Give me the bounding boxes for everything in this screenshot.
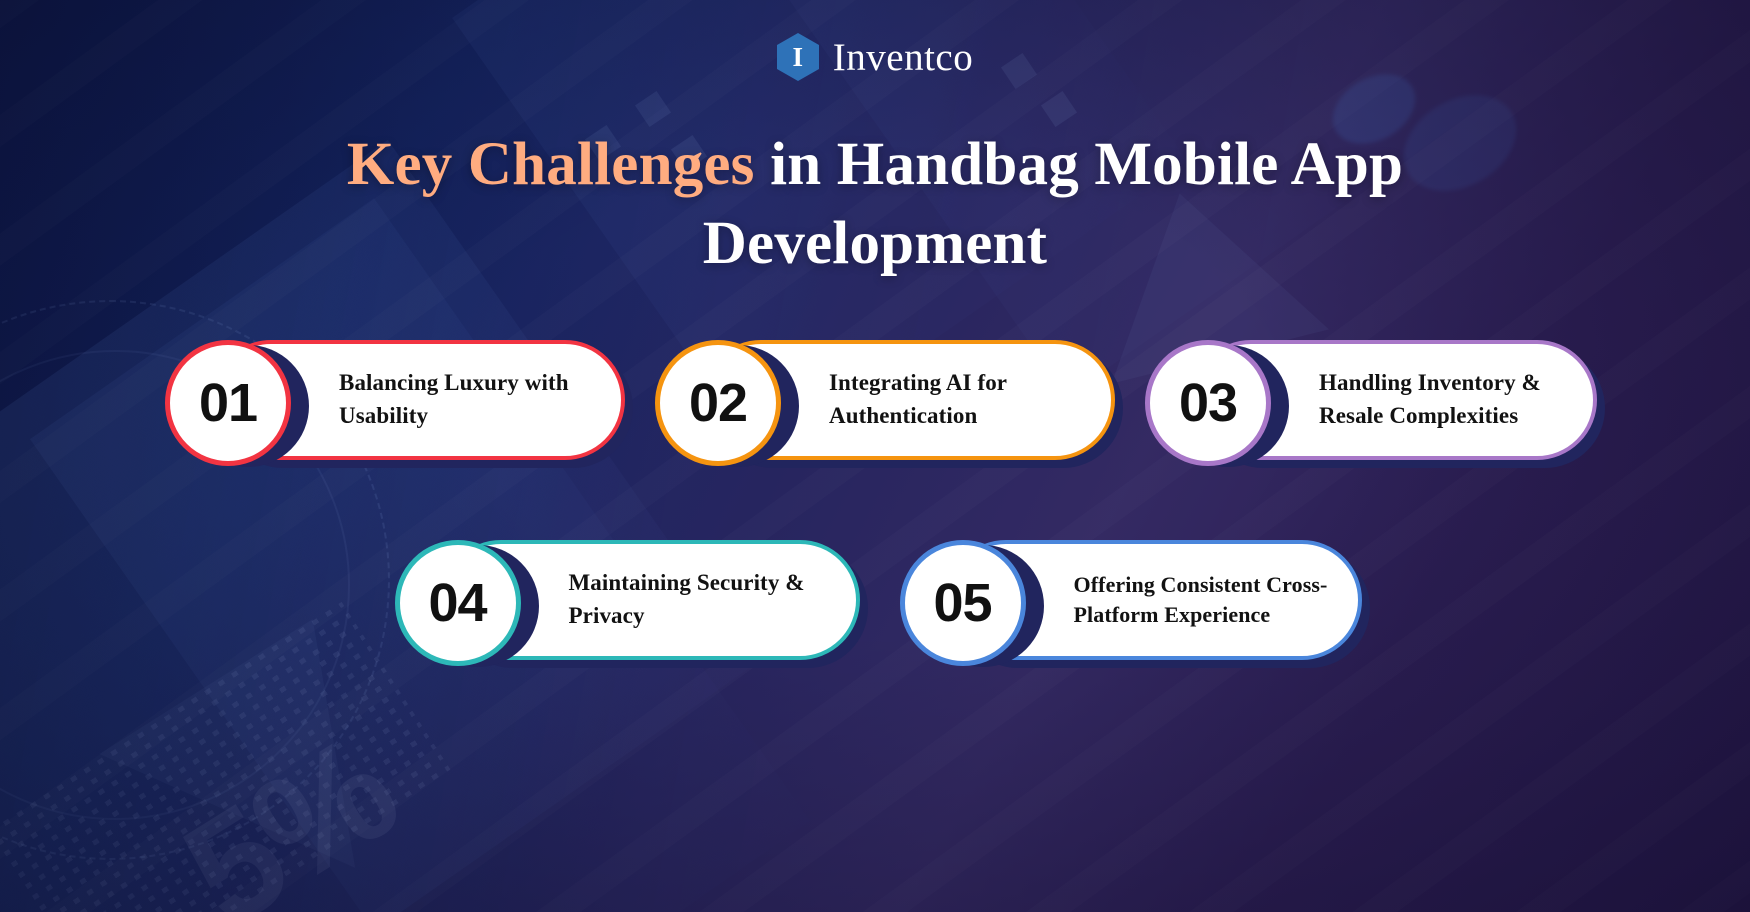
number-badge: 03: [1145, 340, 1271, 466]
card-label: Handling Inventory & Resale Complexities: [1319, 367, 1571, 432]
logo-mark-letter: I: [793, 44, 804, 71]
badge-number: 05: [933, 576, 991, 630]
number-badge: 01: [165, 340, 291, 466]
page-title-rest: in Handbag Mobile App Development: [703, 131, 1403, 277]
logo-wordmark: Inventco: [833, 35, 973, 80]
hexagon-icon: I: [777, 33, 819, 81]
number-badge: 02: [655, 340, 781, 466]
card-label: Offering Consistent Cross-Platform Exper…: [1074, 570, 1336, 631]
brand-logo[interactable]: I Inventco: [0, 26, 1750, 88]
card-label: Balancing Luxury with Usability: [339, 367, 599, 432]
infographic-canvas: 5% I Inventco Key Challenges in Handbag …: [0, 0, 1750, 912]
page-title: Key Challenges in Handbag Mobile App Dev…: [0, 125, 1750, 284]
badge-number: 04: [428, 576, 486, 630]
challenge-card-01[interactable]: Balancing Luxury with Usability 01: [165, 340, 625, 476]
card-label: Maintaining Security & Privacy: [569, 567, 834, 632]
challenge-row-1: Balancing Luxury with Usability 01 Integ…: [0, 340, 1750, 476]
challenge-row-2: Maintaining Security & Privacy 04 Offeri…: [0, 540, 1750, 676]
page-title-highlight: Key Challenges: [347, 131, 755, 198]
badge-number: 02: [689, 376, 747, 430]
challenge-card-04[interactable]: Maintaining Security & Privacy 04: [395, 540, 860, 676]
badge-number: 03: [1179, 376, 1237, 430]
challenge-card-02[interactable]: Integrating AI for Authentication 02: [655, 340, 1115, 476]
badge-number: 01: [199, 376, 257, 430]
number-badge: 04: [395, 540, 521, 666]
challenge-card-05[interactable]: Offering Consistent Cross-Platform Exper…: [900, 540, 1362, 676]
challenge-card-03[interactable]: Handling Inventory & Resale Complexities…: [1145, 340, 1597, 476]
number-badge: 05: [900, 540, 1026, 666]
card-label: Integrating AI for Authentication: [829, 367, 1089, 432]
